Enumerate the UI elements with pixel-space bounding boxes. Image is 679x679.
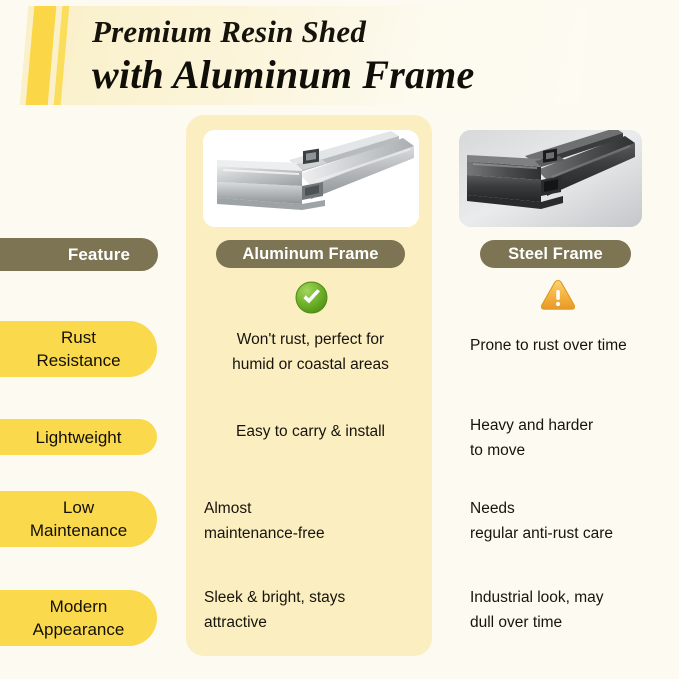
feature-column-header: Feature xyxy=(0,238,158,271)
cell-aluminum-maintenance: Almost maintenance-free xyxy=(204,496,417,546)
feature-row-lightweight-line-1: Lightweight xyxy=(35,426,121,449)
page-title: Premium Resin Shed with Aluminum Frame xyxy=(92,13,612,99)
column-header-aluminum-label: Aluminum Frame xyxy=(242,245,378,264)
column-header-aluminum[interactable]: Aluminum Frame xyxy=(216,240,405,268)
cell-steel-maintenance-line-1: Needs xyxy=(470,496,672,521)
feature-row-rust[interactable]: Rust Resistance xyxy=(0,321,157,377)
cell-steel-rust: Prone to rust over time xyxy=(470,333,672,358)
cell-aluminum-maintenance-line-1: Almost xyxy=(204,496,417,521)
cell-aluminum-rust-line-2: humid or coastal areas xyxy=(204,352,417,377)
cell-steel-maintenance-line-2: regular anti-rust care xyxy=(470,521,672,546)
cell-aluminum-appearance-line-2: attractive xyxy=(204,610,417,635)
cell-steel-lightweight-line-1: Heavy and harder xyxy=(470,413,672,438)
cell-steel-appearance-line-1: Industrial look, may xyxy=(470,585,672,610)
cell-aluminum-appearance: Sleek & bright, stays attractive xyxy=(204,585,417,635)
aluminum-frame-profile-photo xyxy=(203,130,419,227)
green-check-icon xyxy=(295,281,328,314)
page-title-line-1: Premium Resin Shed xyxy=(92,13,612,51)
cell-aluminum-rust-line-1: Won't rust, perfect for xyxy=(204,327,417,352)
feature-row-appearance-line-1: Modern xyxy=(50,595,108,618)
cell-aluminum-rust: Won't rust, perfect for humid or coastal… xyxy=(204,327,417,377)
feature-column-header-label: Feature xyxy=(68,245,130,265)
column-header-steel[interactable]: Steel Frame xyxy=(480,240,631,268)
feature-row-rust-line-2: Resistance xyxy=(36,349,120,372)
feature-row-appearance[interactable]: Modern Appearance xyxy=(0,590,157,646)
feature-row-rust-line-1: Rust xyxy=(61,326,96,349)
page-title-line-2: with Aluminum Frame xyxy=(92,51,612,99)
cell-steel-appearance: Industrial look, may dull over time xyxy=(470,585,672,635)
feature-row-appearance-line-2: Appearance xyxy=(33,618,125,641)
column-header-steel-label: Steel Frame xyxy=(508,245,603,264)
cell-aluminum-appearance-line-1: Sleek & bright, stays xyxy=(204,585,417,610)
cell-steel-lightweight-line-2: to move xyxy=(470,438,672,463)
header-banner: Premium Resin Shed with Aluminum Frame xyxy=(0,0,679,112)
cell-aluminum-lightweight-line-1: Easy to carry & install xyxy=(204,419,417,444)
feature-row-lightweight[interactable]: Lightweight xyxy=(0,419,157,455)
cell-aluminum-lightweight: Easy to carry & install xyxy=(204,419,417,444)
feature-row-maintenance-line-1: Low xyxy=(63,496,94,519)
feature-row-maintenance[interactable]: Low Maintenance xyxy=(0,491,157,547)
cell-steel-rust-line-1: Prone to rust over time xyxy=(470,333,672,358)
orange-warning-icon xyxy=(539,278,577,312)
cell-aluminum-maintenance-line-2: maintenance-free xyxy=(204,521,417,546)
cell-steel-appearance-line-2: dull over time xyxy=(470,610,672,635)
cell-steel-lightweight: Heavy and harder to move xyxy=(470,413,672,463)
feature-row-maintenance-line-2: Maintenance xyxy=(30,519,127,542)
steel-frame-profile-photo xyxy=(459,130,642,227)
cell-steel-maintenance: Needs regular anti-rust care xyxy=(470,496,672,546)
